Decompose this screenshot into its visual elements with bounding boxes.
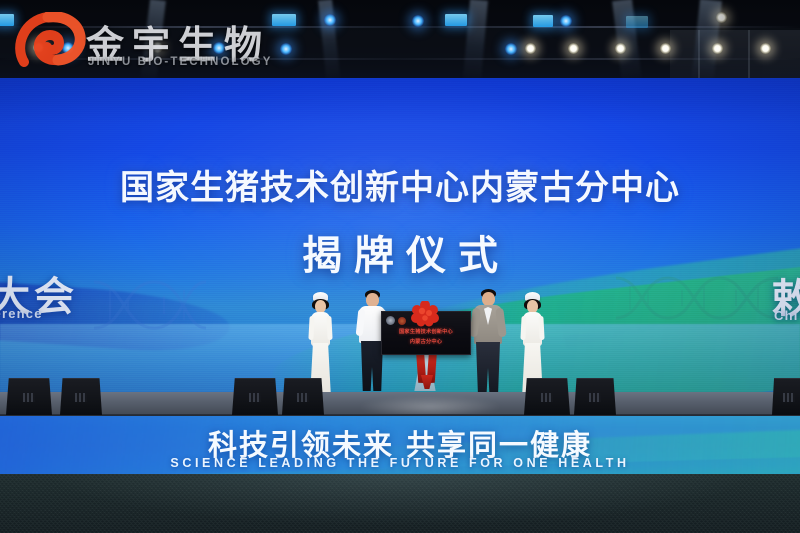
- national-emblem-icon: [386, 316, 395, 325]
- white-spotlight-icon: [525, 43, 536, 54]
- white-spotlight-icon: [568, 43, 579, 54]
- white-spotlight-icon: [716, 12, 727, 23]
- scaffold-structure: [670, 30, 800, 82]
- jinyu-swoosh-logo-icon: [14, 12, 88, 72]
- stage-wedge-monitor-icon: [524, 378, 570, 415]
- stage-wedge-monitor-icon: [574, 378, 616, 415]
- blue-spotlight-icon: [280, 43, 292, 55]
- white-spotlight-icon: [760, 43, 771, 54]
- white-spotlight-icon: [660, 43, 671, 54]
- plaque-line-1: 国家生猪技术创新中心: [382, 328, 470, 335]
- jinyu-swoosh-logo-icon: [398, 317, 406, 325]
- venue-carpet: [0, 474, 800, 533]
- head: [366, 293, 379, 307]
- trousers: [476, 342, 500, 394]
- light-beam-icon: [463, 0, 488, 82]
- arm-right: [538, 316, 544, 340]
- dna-helix-icon: [88, 278, 208, 332]
- slogan-english: SCIENCE LEADING THE FUTURE FOR ONE HEALT…: [0, 456, 800, 470]
- stage-wedge-monitor-icon: [232, 378, 278, 415]
- white-spotlight-icon: [712, 43, 723, 54]
- backdrop-side-text-left-en: ference: [0, 306, 43, 321]
- slogan-led-strip: 科技引领未来 共享同一健康 SCIENCE LEADING THE FUTURE…: [0, 416, 800, 478]
- trousers: [361, 341, 383, 391]
- blue-spotlight-icon: [505, 43, 517, 55]
- watermark-logo: 金宇生物 JINYU BIO-TECHNOLOGY: [14, 6, 264, 78]
- ceremony-photo: 金宇生物 JINYU BIO-TECHNOLOGY: [0, 0, 800, 533]
- white-spotlight-icon: [615, 43, 626, 54]
- arm-right: [326, 316, 332, 340]
- blue-led-panel-icon: [533, 15, 553, 27]
- unveiling-plaque: 国家生猪技术创新中心 内蒙古分中心: [381, 303, 469, 363]
- red-silk-flower-icon: [410, 301, 440, 327]
- blue-led-panel-icon: [445, 14, 467, 26]
- blue-led-panel-icon: [0, 14, 14, 26]
- plaque-line-2: 内蒙古分中心: [382, 338, 470, 345]
- blue-spotlight-icon: [324, 14, 336, 26]
- official-grey-blazer: [470, 289, 506, 401]
- stage-wedge-monitor-icon: [772, 378, 800, 415]
- stage-wedge-monitor-icon: [6, 378, 52, 415]
- backdrop-side-text-right-en: Chi: [774, 308, 799, 323]
- backdrop-top-sheen: [0, 78, 800, 124]
- dna-helix-icon: [612, 274, 782, 322]
- watermark-company-en: JINYU BIO-TECHNOLOGY: [88, 56, 272, 68]
- page-subtitle: 揭牌仪式: [0, 223, 800, 281]
- blue-spotlight-icon: [560, 15, 572, 27]
- head: [482, 292, 495, 306]
- stage-wedge-monitor-icon: [60, 378, 102, 415]
- page-title: 国家生猪技术创新中心内蒙古分中心: [0, 160, 800, 209]
- carpet-texture: [0, 474, 800, 533]
- blue-led-panel-icon: [626, 16, 648, 28]
- blue-spotlight-icon: [412, 15, 424, 27]
- blue-led-panel-icon: [272, 14, 296, 26]
- stage-wedge-monitor-icon: [282, 378, 324, 415]
